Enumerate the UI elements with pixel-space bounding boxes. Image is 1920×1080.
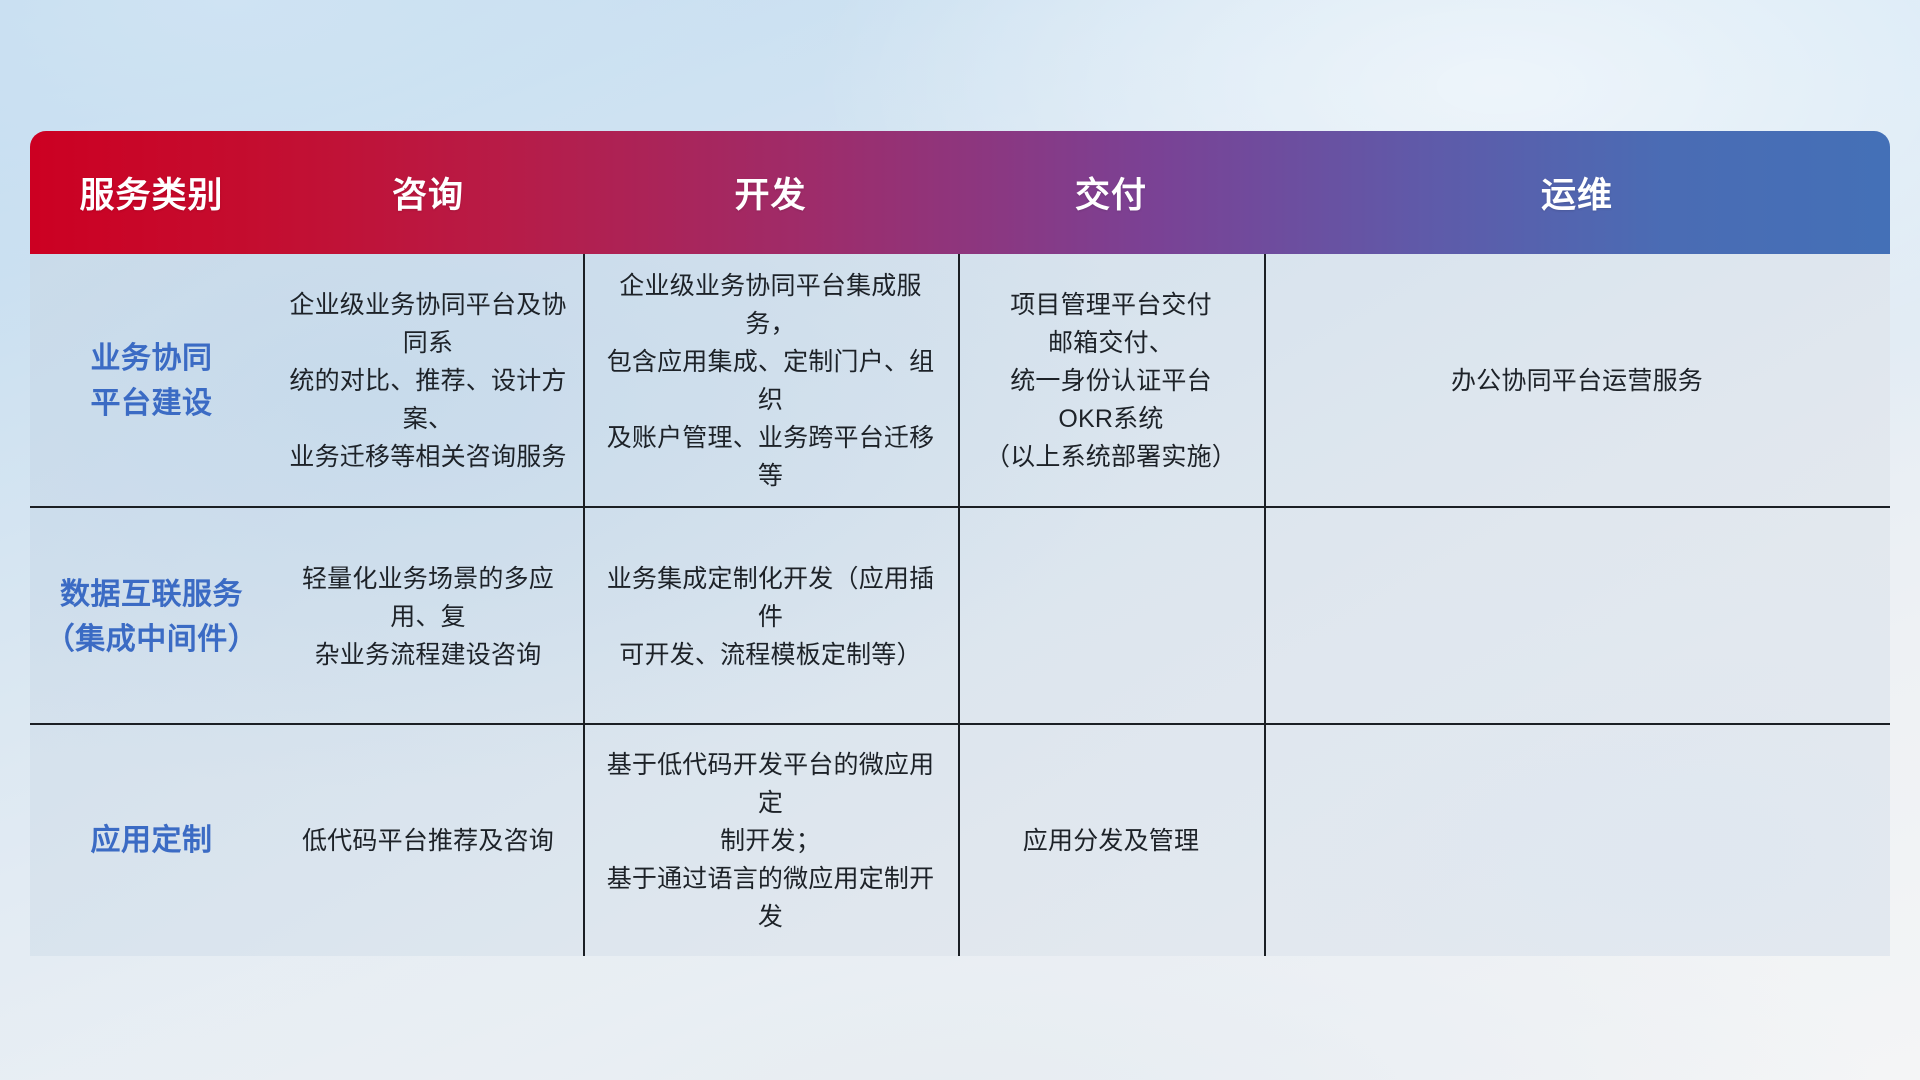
row-label-line: 数据互联服务 bbox=[45, 572, 259, 617]
cell-line: 办公协同平台运营服务 bbox=[1451, 362, 1703, 400]
column-header-development: 开发 bbox=[583, 131, 958, 254]
cell-development: 企业级业务协同平台集成服务， 包含应用集成、定制门户、组织 及账户管理、业务跨平… bbox=[583, 254, 958, 508]
cell-delivery: 项目管理平台交付 邮箱交付、 统一身份认证平台 OKR系统 （以上系统部署实施） bbox=[958, 254, 1264, 508]
row-label-cell: 数据互联服务 （集成中间件） bbox=[30, 508, 273, 725]
cell-consulting: 低代码平台推荐及咨询 bbox=[273, 725, 583, 956]
table-header-row: 服务类别 咨询 开发 交付 运维 bbox=[30, 131, 1890, 254]
column-header-consulting-label: 咨询 bbox=[392, 167, 464, 218]
cell-line: 业务迁移等相关咨询服务 bbox=[285, 438, 571, 476]
cell-consulting: 轻量化业务场景的多应用、复 杂业务流程建设咨询 bbox=[273, 508, 583, 725]
row-label-line: 应用定制 bbox=[91, 818, 213, 863]
cell-consulting: 企业级业务协同平台及协同系 统的对比、推荐、设计方案、 业务迁移等相关咨询服务 bbox=[273, 254, 583, 508]
cell-line: 企业级业务协同平台及协同系 bbox=[285, 286, 571, 362]
cell-operations bbox=[1264, 725, 1890, 956]
cell-delivery-text: 项目管理平台交付 邮箱交付、 统一身份认证平台 OKR系统 （以上系统部署实施） bbox=[985, 286, 1237, 476]
cell-line: 低代码平台推荐及咨询 bbox=[302, 822, 554, 860]
cell-delivery-text: 应用分发及管理 bbox=[1023, 822, 1199, 860]
row-label-cell: 业务协同 平台建设 bbox=[30, 254, 273, 508]
cell-line: 应用分发及管理 bbox=[1023, 822, 1199, 860]
cell-line: 轻量化业务场景的多应用、复 bbox=[285, 560, 571, 636]
cell-line: 制开发； bbox=[595, 822, 946, 860]
cell-consulting-text: 企业级业务协同平台及协同系 统的对比、推荐、设计方案、 业务迁移等相关咨询服务 bbox=[285, 286, 571, 476]
column-header-operations: 运维 bbox=[1264, 131, 1890, 254]
cell-consulting-text: 轻量化业务场景的多应用、复 杂业务流程建设咨询 bbox=[285, 560, 571, 674]
row-label-line: 业务协同 bbox=[91, 336, 213, 381]
cell-development-text: 企业级业务协同平台集成服务， 包含应用集成、定制门户、组织 及账户管理、业务跨平… bbox=[595, 267, 946, 495]
column-header-category: 服务类别 bbox=[30, 131, 273, 254]
cell-delivery: 应用分发及管理 bbox=[958, 725, 1264, 956]
row-label-text: 数据互联服务 （集成中间件） bbox=[45, 572, 259, 662]
cell-development-text: 基于低代码开发平台的微应用定 制开发； 基于通过语言的微应用定制开发 bbox=[595, 746, 946, 936]
table-row: 应用定制 低代码平台推荐及咨询 基于低代码开发平台的微应用定 制开发； 基于通过… bbox=[30, 725, 1890, 956]
cell-line: 杂业务流程建设咨询 bbox=[285, 636, 571, 674]
cell-operations: 办公协同平台运营服务 bbox=[1264, 254, 1890, 508]
column-header-consulting: 咨询 bbox=[273, 131, 583, 254]
row-label-line: （集成中间件） bbox=[45, 617, 259, 662]
row-label-text: 业务协同 平台建设 bbox=[91, 336, 213, 426]
row-label-cell: 应用定制 bbox=[30, 725, 273, 956]
cell-line: 基于通过语言的微应用定制开发 bbox=[595, 860, 946, 936]
row-label-text: 应用定制 bbox=[91, 818, 213, 863]
cell-line: 邮箱交付、 bbox=[985, 324, 1237, 362]
column-header-delivery: 交付 bbox=[958, 131, 1264, 254]
cell-line: 可开发、流程模板定制等） bbox=[595, 636, 946, 674]
cell-line: 基于低代码开发平台的微应用定 bbox=[595, 746, 946, 822]
cell-line: OKR系统 bbox=[985, 400, 1237, 438]
cell-line: 及账户管理、业务跨平台迁移等 bbox=[595, 419, 946, 495]
cell-line: 业务集成定制化开发（应用插件 bbox=[595, 560, 946, 636]
column-header-category-label: 服务类别 bbox=[79, 167, 223, 218]
column-header-operations-label: 运维 bbox=[1541, 167, 1613, 218]
cell-development-text: 业务集成定制化开发（应用插件 可开发、流程模板定制等） bbox=[595, 560, 946, 674]
column-header-development-label: 开发 bbox=[734, 167, 806, 218]
cell-development: 业务集成定制化开发（应用插件 可开发、流程模板定制等） bbox=[583, 508, 958, 725]
cell-consulting-text: 低代码平台推荐及咨询 bbox=[302, 822, 554, 860]
cell-operations-text: 办公协同平台运营服务 bbox=[1451, 362, 1703, 400]
column-header-delivery-label: 交付 bbox=[1075, 167, 1147, 218]
table-row: 数据互联服务 （集成中间件） 轻量化业务场景的多应用、复 杂业务流程建设咨询 业… bbox=[30, 508, 1890, 725]
cell-line: 企业级业务协同平台集成服务， bbox=[595, 267, 946, 343]
service-matrix-table: 服务类别 咨询 开发 交付 运维 bbox=[30, 131, 1890, 956]
cell-line: 统的对比、推荐、设计方案、 bbox=[285, 362, 571, 438]
cell-operations bbox=[1264, 508, 1890, 725]
cell-line: 包含应用集成、定制门户、组织 bbox=[595, 343, 946, 419]
cell-delivery bbox=[958, 508, 1264, 725]
cell-line: 统一身份认证平台 bbox=[985, 362, 1237, 400]
table-body: 业务协同 平台建设 企业级业务协同平台及协同系 统的对比、推荐、设计方案、 业务… bbox=[30, 254, 1890, 956]
row-label-line: 平台建设 bbox=[91, 381, 213, 426]
slide-canvas: 服务类别 咨询 开发 交付 运维 bbox=[0, 0, 1920, 1080]
cell-development: 基于低代码开发平台的微应用定 制开发； 基于通过语言的微应用定制开发 bbox=[583, 725, 958, 956]
cell-line: （以上系统部署实施） bbox=[985, 438, 1237, 476]
table-row: 业务协同 平台建设 企业级业务协同平台及协同系 统的对比、推荐、设计方案、 业务… bbox=[30, 254, 1890, 508]
cell-line: 项目管理平台交付 bbox=[985, 286, 1237, 324]
